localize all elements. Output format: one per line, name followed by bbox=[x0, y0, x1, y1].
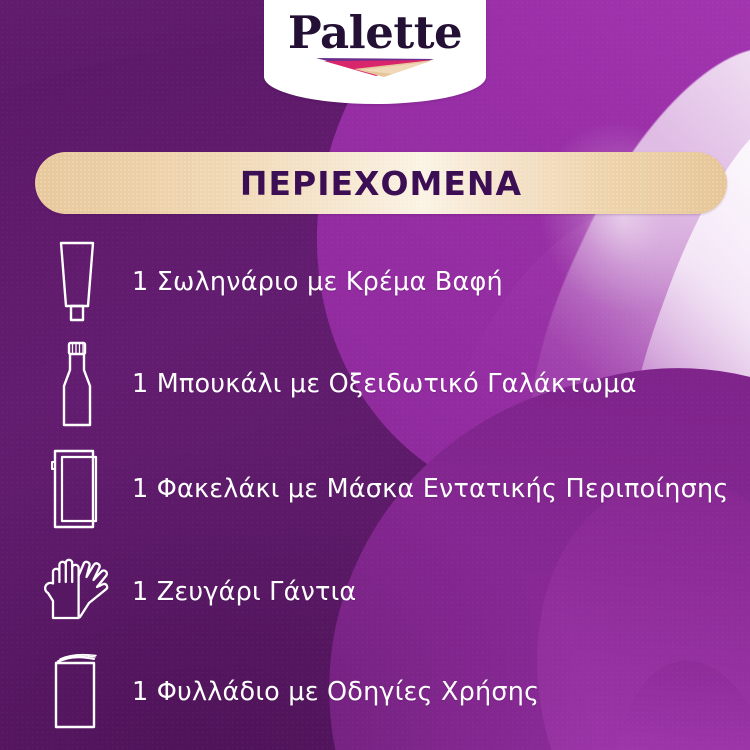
contents-banner: ΠΕΡΙΕΧΟΜΕΝΑ bbox=[35, 152, 727, 214]
banner-title: ΠΕΡΙΕΧΟΜΕΝΑ bbox=[240, 164, 522, 203]
brand-swoosh-icon bbox=[314, 56, 436, 78]
list-item: 1 Φακελάκι με Μάσκα Εντατικής Περιποίηση… bbox=[38, 436, 738, 542]
list-item: 1 Φυλλάδιο με Οδηγίες Χρήσης bbox=[38, 642, 738, 742]
booklet-icon bbox=[38, 646, 116, 738]
bottle-icon bbox=[38, 338, 116, 430]
contents-list: 1 Σωληνάριο με Κρέμα Βαφή 1 Μπουκάλι με … bbox=[38, 232, 738, 742]
list-item: 1 Σωληνάριο με Κρέμα Βαφή bbox=[38, 232, 738, 332]
brand-logo-badge: Palette bbox=[264, 0, 486, 104]
product-contents-poster: Palette ΠΕΡΙΕΧΟΜΕΝΑ 1 Σωληνάριο με Κρέμα… bbox=[0, 0, 750, 750]
sachet-icon bbox=[38, 443, 116, 535]
list-item-label: 1 Μπουκάλι με Οξειδωτικό Γαλάκτωμα bbox=[132, 369, 637, 399]
gloves-icon bbox=[38, 546, 116, 638]
list-item-label: 1 Φακελάκι με Μάσκα Εντατικής Περιποίηση… bbox=[132, 474, 728, 504]
tube-icon bbox=[38, 236, 116, 328]
list-item-label: 1 Φυλλάδιο με Οδηγίες Χρήσης bbox=[132, 677, 539, 707]
list-item-label: 1 Σωληνάριο με Κρέμα Βαφή bbox=[132, 267, 503, 297]
list-item-label: 1 Ζευγάρι Γάντια bbox=[132, 577, 356, 607]
list-item: 1 Μπουκάλι με Οξειδωτικό Γαλάκτωμα bbox=[38, 332, 738, 436]
brand-wordmark: Palette bbox=[288, 10, 462, 55]
list-item: 1 Ζευγάρι Γάντια bbox=[38, 542, 738, 642]
